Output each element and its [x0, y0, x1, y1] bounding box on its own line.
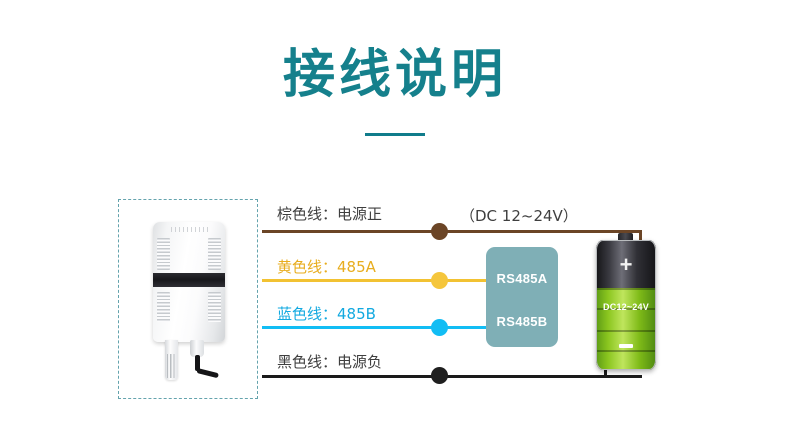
page-title: 接线说明 — [0, 45, 790, 105]
battery-segment-line-4 — [596, 350, 656, 352]
rs485-module[interactable]: RS485A RS485B — [486, 247, 558, 347]
battery-segment-line-3 — [596, 330, 656, 332]
title-underline-divider — [365, 133, 425, 136]
battery-minus-symbol — [619, 344, 633, 348]
wire-brown-horizontal — [262, 230, 642, 233]
sensor-front-band — [153, 273, 225, 287]
wire-node-brown — [431, 223, 448, 240]
wire-black-horizontal — [262, 375, 642, 378]
sensor-vent-right-top — [208, 238, 221, 270]
wire-label-yellow: 黄色线：485A — [277, 258, 376, 276]
dc-power-battery: + DC12~24V — [596, 233, 656, 373]
wire-node-black — [431, 367, 448, 384]
wire-node-yellow — [431, 272, 448, 289]
rs485-port-a-label: RS485A — [486, 271, 558, 286]
battery-rating-label: DC12~24V — [596, 302, 656, 312]
sensor-probe — [165, 340, 178, 380]
sensor-cable-tail — [196, 368, 219, 378]
wire-label-brown: 棕色线：电源正 — [277, 205, 382, 223]
wire-node-blue — [431, 319, 448, 336]
wiring-diagram-page: 接线说明 棕色线：电源正 （DC 12~24V） 黄色线：485A 蓝色线：48… — [0, 0, 790, 446]
wire-label-black: 黑色线：电源负 — [277, 353, 382, 371]
voltage-note: （DC 12~24V） — [460, 205, 578, 226]
sensor-photo-frame — [118, 199, 258, 399]
battery-segment-line-1 — [596, 288, 656, 290]
wire-yellow-horizontal — [262, 279, 490, 282]
wire-blue-horizontal — [262, 326, 490, 329]
sensor-body — [153, 222, 225, 342]
sensor-vent-left-top — [157, 238, 170, 270]
sensor-top-vents — [171, 227, 211, 232]
battery-green-shell — [596, 288, 656, 370]
sensor-vent-left-bottom — [157, 292, 170, 322]
battery-body: + DC12~24V — [596, 240, 656, 370]
wire-label-blue: 蓝色线：485B — [277, 305, 376, 323]
sensor-device-illustration — [145, 222, 233, 382]
rs485-port-b-label: RS485B — [486, 314, 558, 329]
sensor-vent-right-bottom — [208, 292, 221, 322]
battery-plus-symbol: + — [596, 254, 656, 276]
